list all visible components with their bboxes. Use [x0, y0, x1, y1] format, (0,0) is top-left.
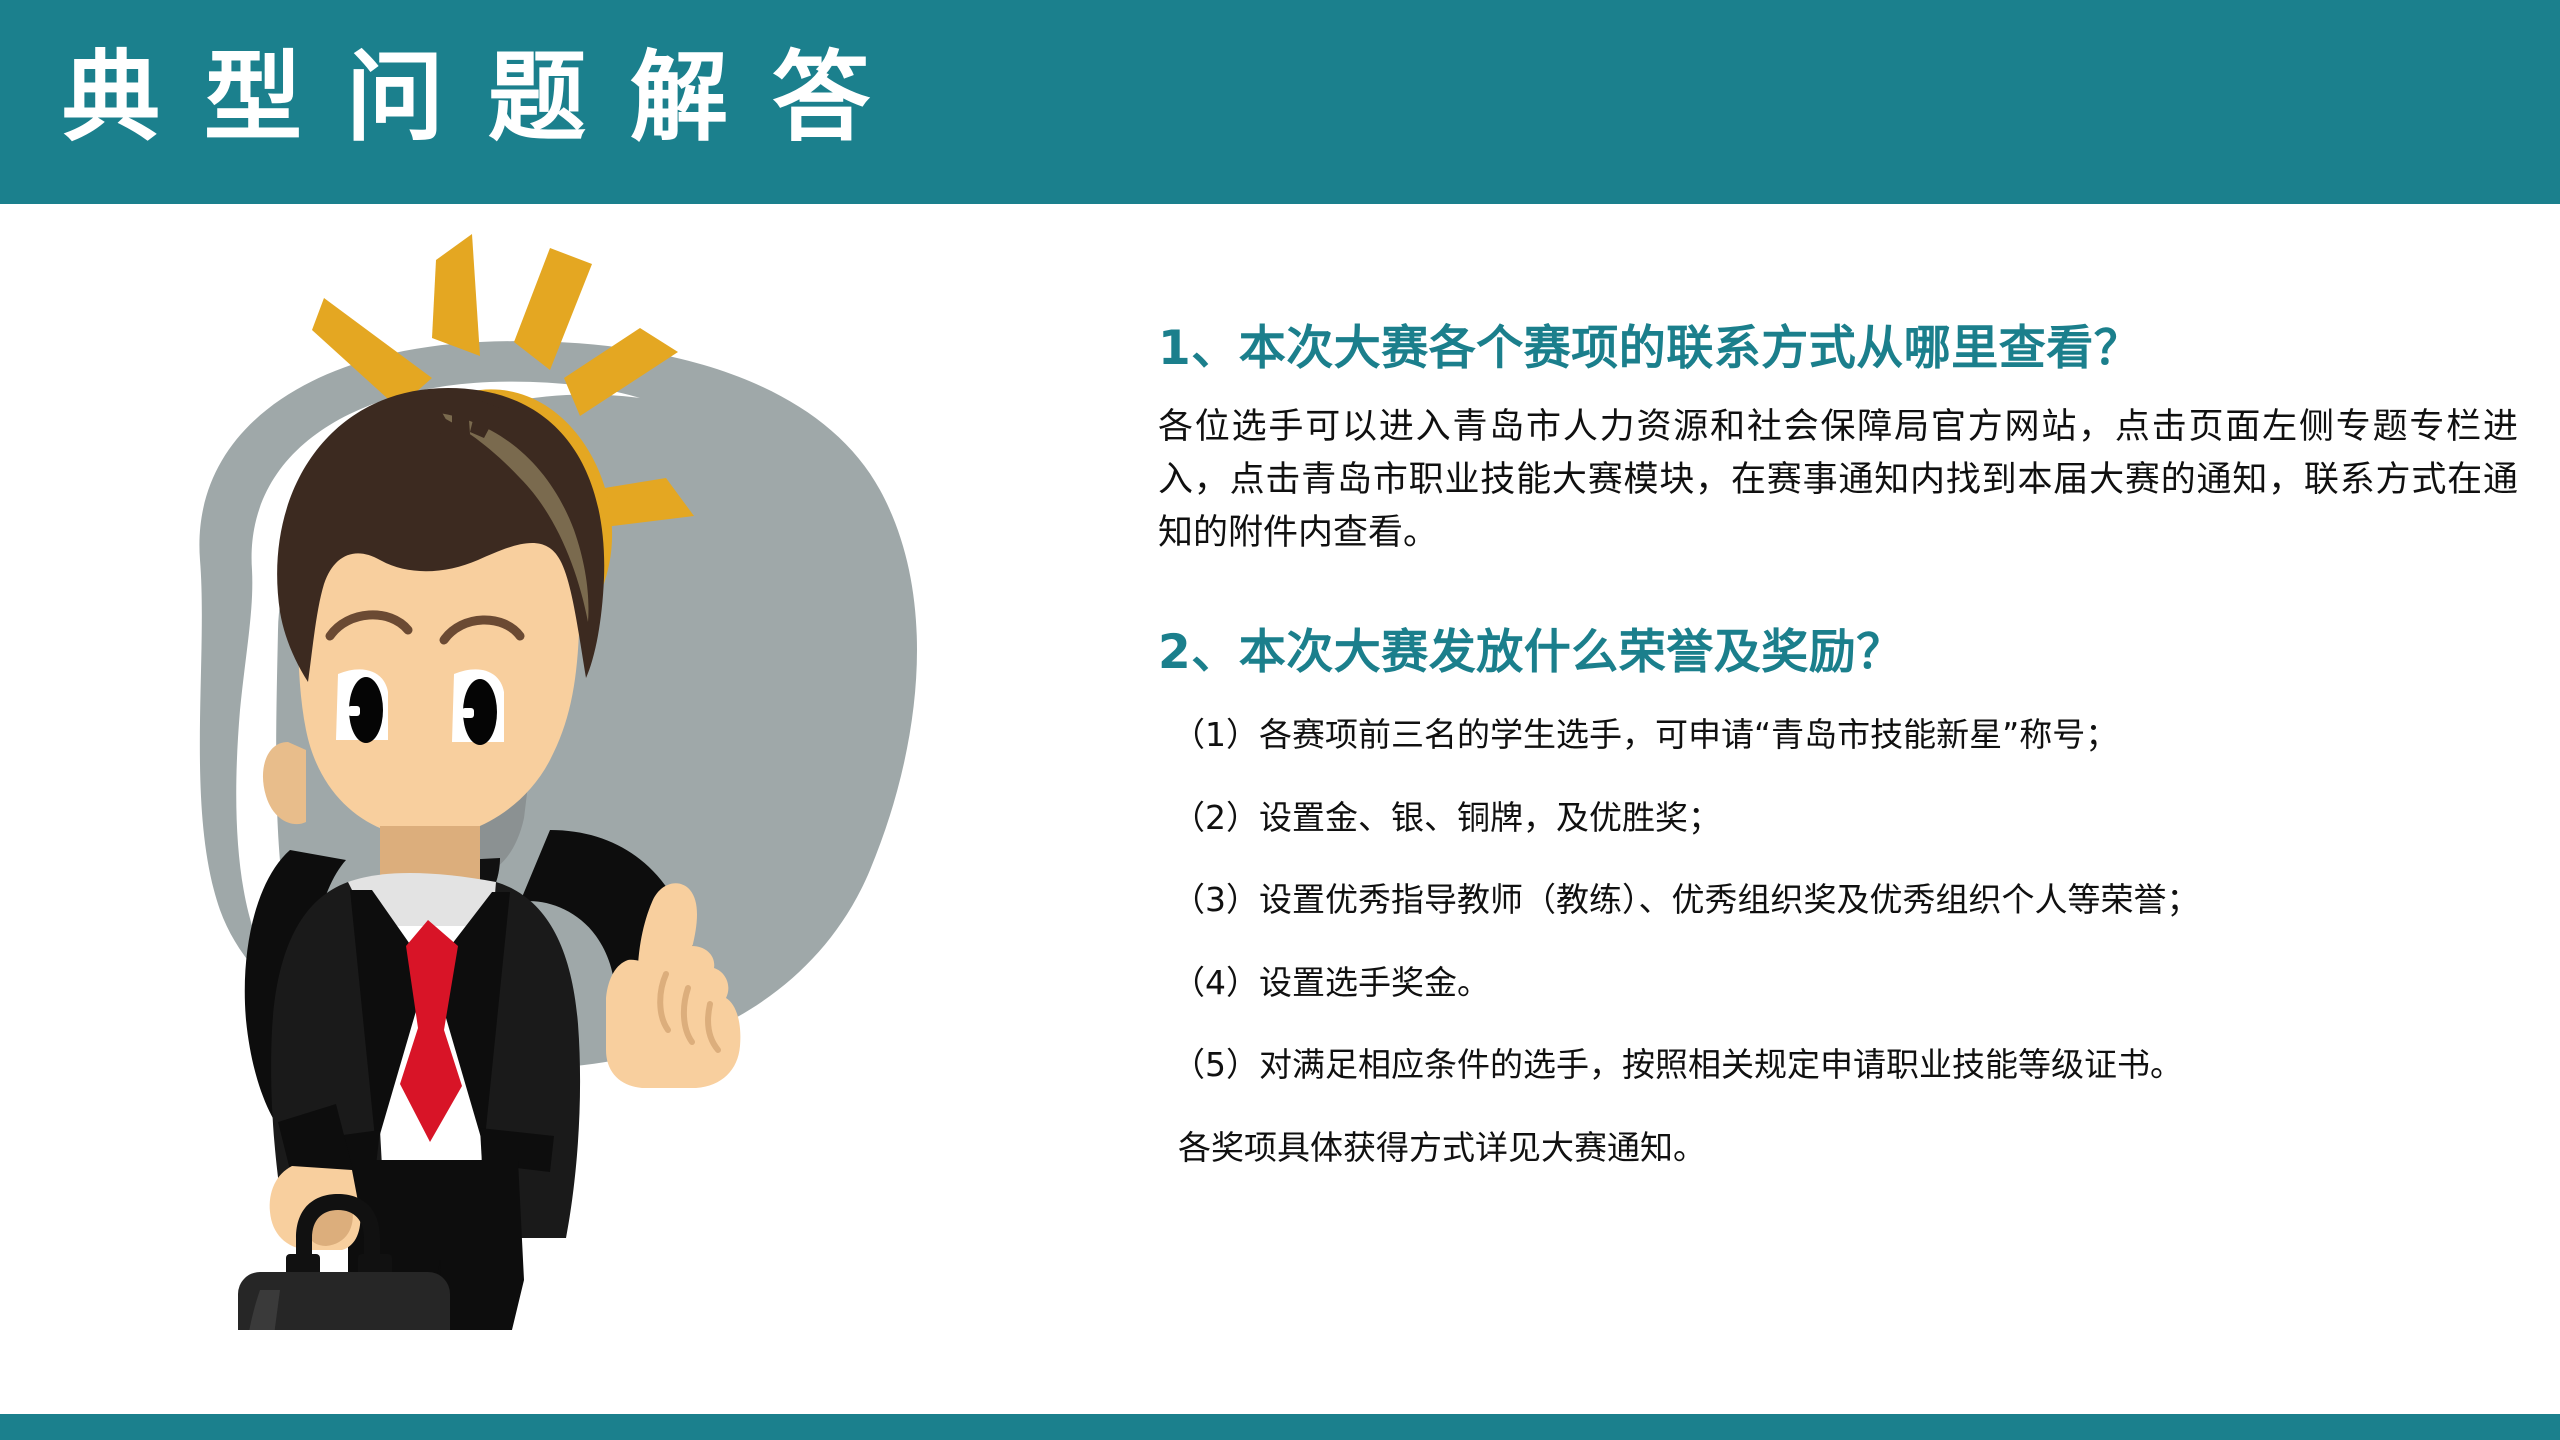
list-item: （2）设置金、银、铜牌，及优胜奖； — [1172, 796, 2518, 841]
qa-content: 1、本次大赛各个赛项的联系方式从哪里查看？ 各位选手可以进入青岛市人力资源和社会… — [1158, 320, 2518, 1170]
question-2-closing-note: 各奖项具体获得方式详见大赛通知。 — [1178, 1126, 2518, 1171]
illustration-businessman-idea — [80, 230, 1080, 1330]
footer-bar — [0, 1414, 2560, 1440]
question-2-answer-list: （1）各赛项前三名的学生选手，可申请“青岛市技能新星”称号； （2）设置金、银、… — [1158, 713, 2518, 1088]
list-item: （4）设置选手奖金。 — [1172, 961, 2518, 1006]
slide-root: 典型问题解答 — [0, 0, 2560, 1440]
list-item: （3）设置优秀指导教师（教练）、优秀组织奖及优秀组织个人等荣誉； — [1172, 878, 2518, 923]
list-item: （1）各赛项前三名的学生选手，可申请“青岛市技能新星”称号； — [1172, 713, 2518, 758]
question-1-heading: 1、本次大赛各个赛项的联系方式从哪里查看？ — [1158, 320, 2518, 379]
list-item: （5）对满足相应条件的选手，按照相关规定申请职业技能等级证书。 — [1172, 1043, 2518, 1088]
question-2-heading: 2、本次大赛发放什么荣誉及奖励？ — [1158, 624, 2518, 683]
header-bar: 典型问题解答 — [0, 0, 2560, 204]
question-1-answer: 各位选手可以进入青岛市人力资源和社会保障局官方网站，点击页面左侧专题专栏进入，点… — [1158, 401, 2518, 561]
page-title: 典型问题解答 — [62, 28, 914, 168]
